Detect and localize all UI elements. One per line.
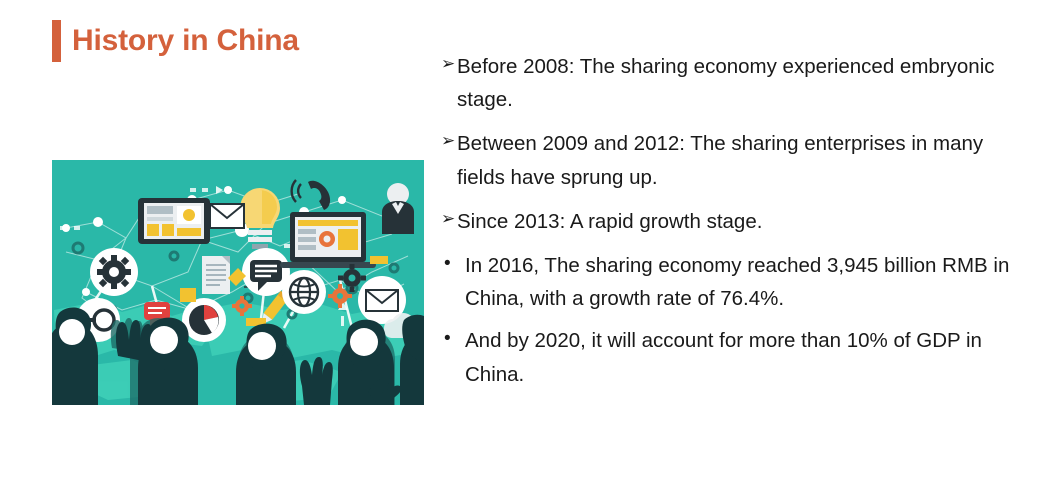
dot-bullet-icon: • (441, 249, 465, 280)
list-item: • In 2016, The sharing economy reached 3… (441, 249, 1011, 315)
globe-icon (282, 270, 326, 314)
bullet-text: Before 2008: The sharing economy experie… (457, 50, 1011, 116)
list-item: ➢ Before 2008: The sharing economy exper… (441, 50, 1011, 116)
bullet-text: In 2016, The sharing economy reached 3,9… (465, 249, 1011, 315)
bullet-text: And by 2020, it will account for more th… (465, 324, 1011, 390)
sharing-economy-network-illustration (52, 160, 424, 405)
page-title: History in China (72, 26, 299, 56)
bullet-text: Since 2013: A rapid growth stage. (457, 205, 1011, 238)
arrow-bullet-icon: ➢ (441, 50, 457, 78)
list-item: ➢ Since 2013: A rapid growth stage. (441, 205, 1011, 238)
arrow-bullet-icon: ➢ (441, 205, 457, 233)
list-item: ➢ Between 2009 and 2012: The sharing ent… (441, 127, 1011, 193)
dot-bullet-icon: • (441, 324, 465, 355)
body-content: ➢ Before 2008: The sharing economy exper… (441, 50, 1011, 400)
envelope-icon (198, 204, 244, 232)
bullet-text: Between 2009 and 2012: The sharing enter… (457, 127, 1011, 193)
title-accent-bar (52, 20, 61, 62)
slide-title-group: History in China (52, 20, 299, 62)
document-icon (202, 256, 230, 294)
arrow-bullet-icon: ➢ (441, 127, 457, 155)
list-item: • And by 2020, it will account for more … (441, 324, 1011, 390)
gear-icon (90, 248, 138, 296)
laptop-icon (280, 212, 376, 268)
